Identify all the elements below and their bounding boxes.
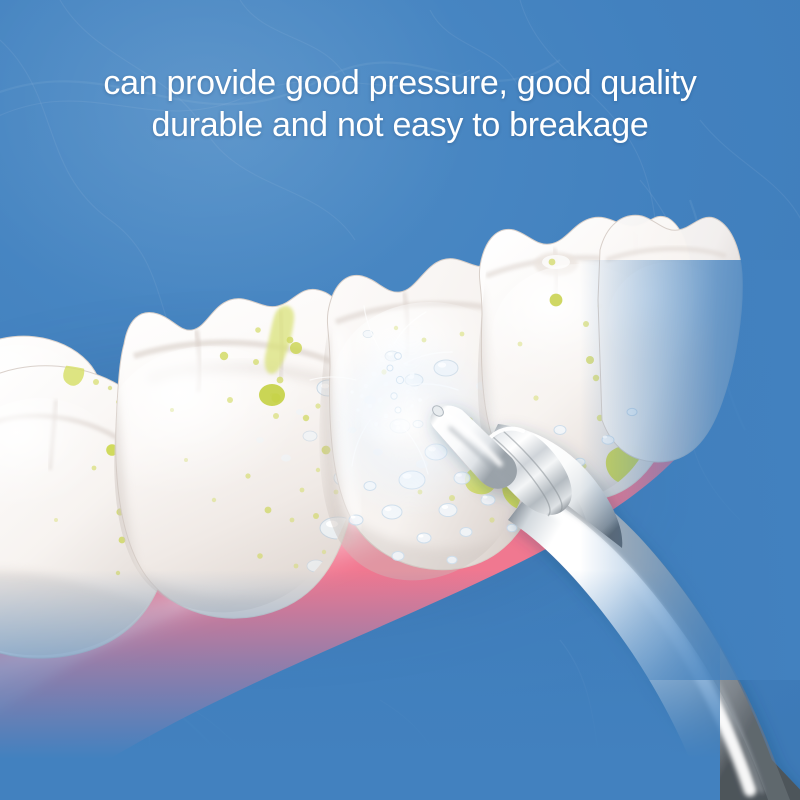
dental-illustration — [0, 0, 800, 800]
product-image-canvas: can provide good pressure, good quality … — [0, 0, 800, 800]
tooth-far-right — [598, 215, 742, 462]
teeth-and-gums-svg — [0, 0, 800, 800]
